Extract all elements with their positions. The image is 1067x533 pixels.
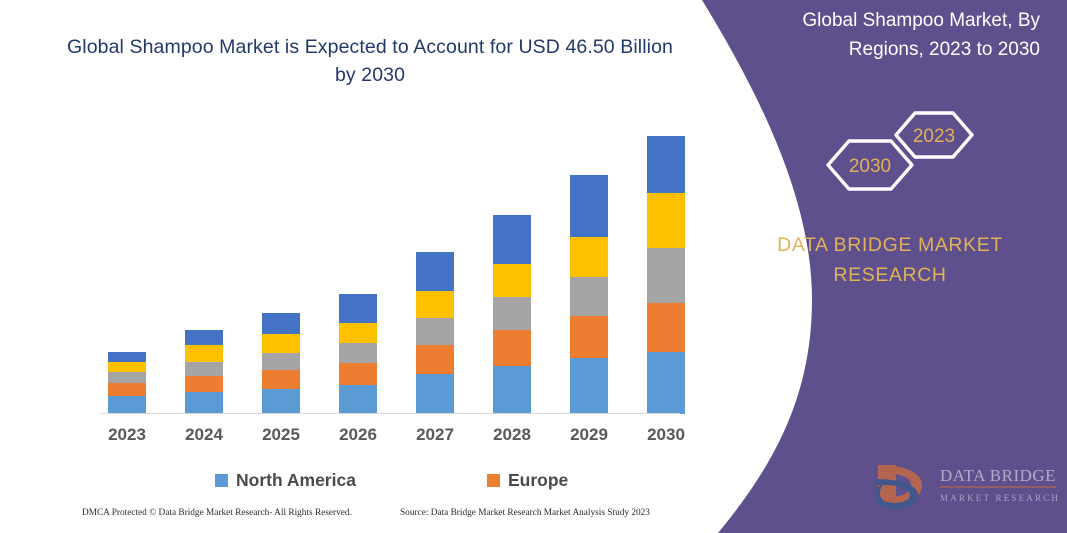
bar-segment-2027-3: [416, 318, 454, 345]
x-tick-2027: 2027: [397, 425, 474, 445]
bar-segment-2027-1: [416, 374, 454, 414]
bar-segment-2025-5: [262, 313, 300, 334]
bar-segment-2030-3: [647, 248, 685, 303]
legend-label: North America: [236, 470, 356, 491]
chart-legend: North AmericaEurope: [0, 470, 700, 498]
bar-segment-2028-4: [493, 264, 531, 297]
x-tick-2023: 2023: [89, 425, 166, 445]
bar-segment-2023-3: [108, 372, 146, 383]
hexagon-badges: 2030 2023: [810, 95, 990, 205]
bar-segment-2028-2: [493, 330, 531, 366]
x-tick-2025: 2025: [243, 425, 320, 445]
bar-segment-2026-2: [339, 363, 377, 385]
bar-2027: [416, 252, 454, 414]
footer-copyright: DMCA Protected © Data Bridge Market Rese…: [82, 508, 352, 518]
x-tick-2029: 2029: [551, 425, 628, 445]
bar-segment-2028-1: [493, 366, 531, 414]
x-tick-2028: 2028: [474, 425, 551, 445]
legend-item-north-america[interactable]: North America: [215, 470, 356, 491]
bar-segment-2024-5: [185, 330, 223, 345]
bar-segment-2027-5: [416, 252, 454, 291]
footer-source: Source: Data Bridge Market Research Mark…: [400, 508, 650, 518]
bar-chart-plot: 20232024202520262027202820292030: [0, 0, 710, 420]
bar-segment-2023-4: [108, 362, 146, 372]
bar-segment-2025-4: [262, 334, 300, 353]
bar-2029: [570, 175, 608, 414]
brand-line-1: DATA BRIDGE MARKET: [730, 230, 1050, 260]
brand-line-2: RESEARCH: [730, 260, 1050, 290]
bar-segment-2027-2: [416, 345, 454, 374]
bar-segment-2024-2: [185, 376, 223, 392]
bar-segment-2026-1: [339, 385, 377, 414]
hexagon-2023-label: 2023: [913, 126, 955, 147]
bar-segment-2028-5: [493, 215, 531, 264]
bar-segment-2030-1: [647, 352, 685, 414]
footer: DMCA Protected © Data Bridge Market Rese…: [0, 508, 700, 526]
bar-segment-2029-3: [570, 277, 608, 316]
bar-segment-2025-2: [262, 370, 300, 389]
bar-segment-2029-4: [570, 237, 608, 277]
bar-segment-2029-2: [570, 316, 608, 358]
bar-segment-2029-5: [570, 175, 608, 237]
bar-segment-2026-4: [339, 323, 377, 343]
bar-segment-2030-4: [647, 193, 685, 248]
bar-segment-2029-1: [570, 358, 608, 414]
bar-2024: [185, 330, 223, 414]
hexagon-2023: 2023: [896, 113, 972, 157]
bar-segment-2023-2: [108, 383, 146, 396]
bar-segment-2025-1: [262, 389, 300, 414]
x-axis-tick-labels: 20232024202520262027202820292030: [0, 425, 710, 451]
bar-segment-2028-3: [493, 297, 531, 330]
bar-segment-2027-4: [416, 291, 454, 318]
logo-text-line-1: DATA BRIDGE: [940, 466, 1056, 485]
bar-2023: [108, 352, 146, 414]
bar-segment-2024-1: [185, 392, 223, 414]
bar-segment-2023-5: [108, 352, 146, 362]
x-tick-2030: 2030: [628, 425, 705, 445]
bar-segment-2024-4: [185, 345, 223, 362]
logo-mark-icon: [875, 465, 922, 509]
bar-segment-2030-2: [647, 303, 685, 352]
bar-segment-2025-3: [262, 353, 300, 370]
bar-segment-2026-3: [339, 343, 377, 363]
legend-item-europe[interactable]: Europe: [487, 470, 568, 491]
hexagon-2030: 2030: [828, 141, 912, 189]
infographic-canvas: Global Shampoo Market is Expected to Acc…: [0, 0, 1067, 533]
dbmr-logo: DATA BRIDGE MARKET RESEARCH: [870, 455, 1060, 513]
purple-panel-content: Global Shampoo Market, By Regions, 2023 …: [700, 0, 1067, 533]
bar-2028: [493, 215, 531, 414]
hexagon-2030-label: 2030: [849, 156, 891, 177]
brand-name: DATA BRIDGE MARKET RESEARCH: [730, 230, 1050, 290]
bar-2030: [647, 136, 685, 414]
x-tick-2024: 2024: [166, 425, 243, 445]
x-axis-line: [100, 413, 680, 414]
bar-2025: [262, 313, 300, 414]
bar-segment-2023-1: [108, 396, 146, 414]
bar-segment-2026-5: [339, 294, 377, 323]
legend-swatch-icon: [215, 474, 228, 487]
bar-segment-2024-3: [185, 362, 223, 376]
bar-segment-2030-5: [647, 136, 685, 193]
bar-2026: [339, 294, 377, 414]
legend-label: Europe: [508, 470, 568, 491]
logo-text-line-2: MARKET RESEARCH: [940, 493, 1060, 503]
x-tick-2026: 2026: [320, 425, 397, 445]
chart-panel: Global Shampoo Market is Expected to Acc…: [0, 0, 710, 533]
legend-swatch-icon: [487, 474, 500, 487]
panel-title: Global Shampoo Market, By Regions, 2023 …: [740, 6, 1040, 64]
bars-layer: [0, 0, 710, 414]
